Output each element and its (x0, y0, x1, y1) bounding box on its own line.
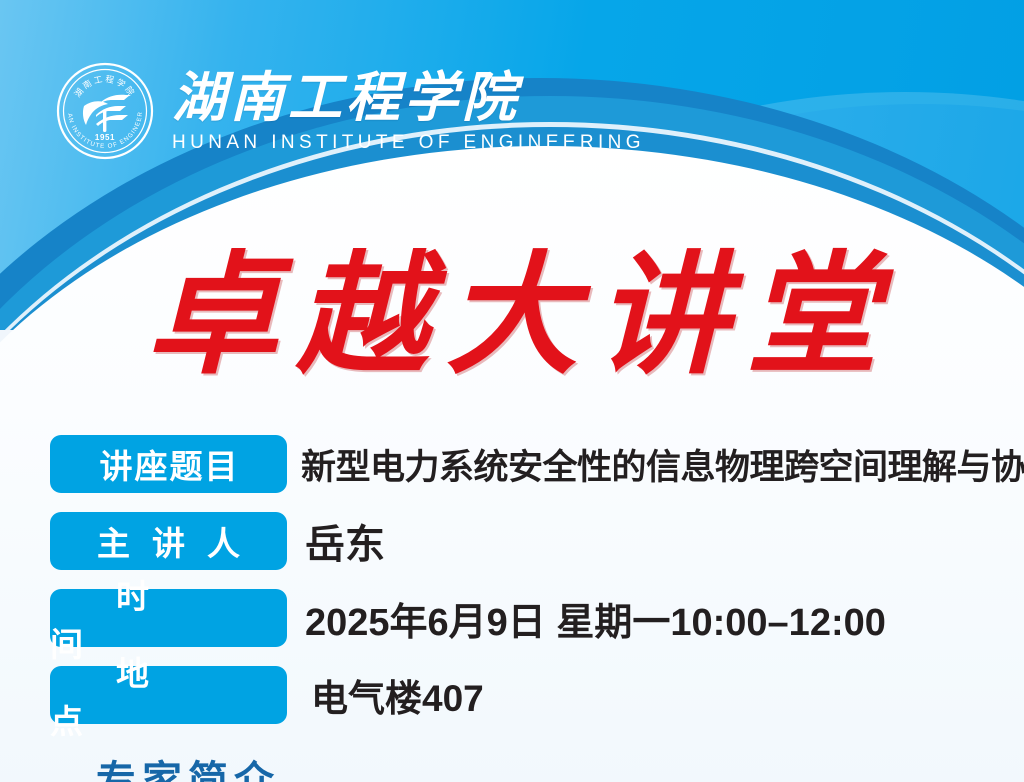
label-badge-time: 时间 (50, 589, 287, 647)
info-row-location: 地点 电气楼407 (0, 666, 1024, 724)
value-lecture-time: 2025年6月9日 星期一10:00–12:00 (305, 591, 886, 646)
section-heading-expert-profile: 专家简介 (96, 748, 280, 782)
brand-title-calligraphy: 卓越大讲堂 (0, 246, 1024, 389)
value-speaker-name: 岳东 (305, 512, 385, 570)
university-logo-lockup: 湖南工程学院 HUNAN INSTITUTE OF ENGINEERING 19… (56, 62, 645, 160)
label-badge-topic: 讲座题目 (50, 435, 287, 493)
info-row-time: 时间 2025年6月9日 星期一10:00–12:00 (0, 589, 1024, 647)
svg-text:1951: 1951 (95, 133, 115, 142)
value-lecture-location: 电气楼407 (311, 668, 484, 722)
university-name-en: HUNAN INSTITUTE OF ENGINEERING (172, 133, 645, 152)
info-row-speaker: 主讲人 岳东 (0, 512, 1024, 570)
label-badge-location: 地点 (50, 666, 287, 724)
university-seal-icon: 湖南工程学院 HUNAN INSTITUTE OF ENGINEERING 19… (56, 62, 154, 160)
university-wordmark: 湖南工程学院 HUNAN INSTITUTE OF ENGINEERING (172, 71, 645, 152)
label-badge-speaker: 主讲人 (50, 512, 287, 570)
lecture-poster: 湖南工程学院 HUNAN INSTITUTE OF ENGINEERING 19… (0, 0, 1024, 782)
info-row-topic: 讲座题目 新型电力系统安全性的信息物理跨空间理解与协同应对机制 (0, 435, 1024, 493)
university-name-cn: 湖南工程学院 (172, 71, 645, 125)
value-lecture-topic: 新型电力系统安全性的信息物理跨空间理解与协同应对机制 (301, 439, 1024, 490)
lecture-info-table: 讲座题目 新型电力系统安全性的信息物理跨空间理解与协同应对机制 主讲人 岳东 时… (0, 435, 1024, 743)
